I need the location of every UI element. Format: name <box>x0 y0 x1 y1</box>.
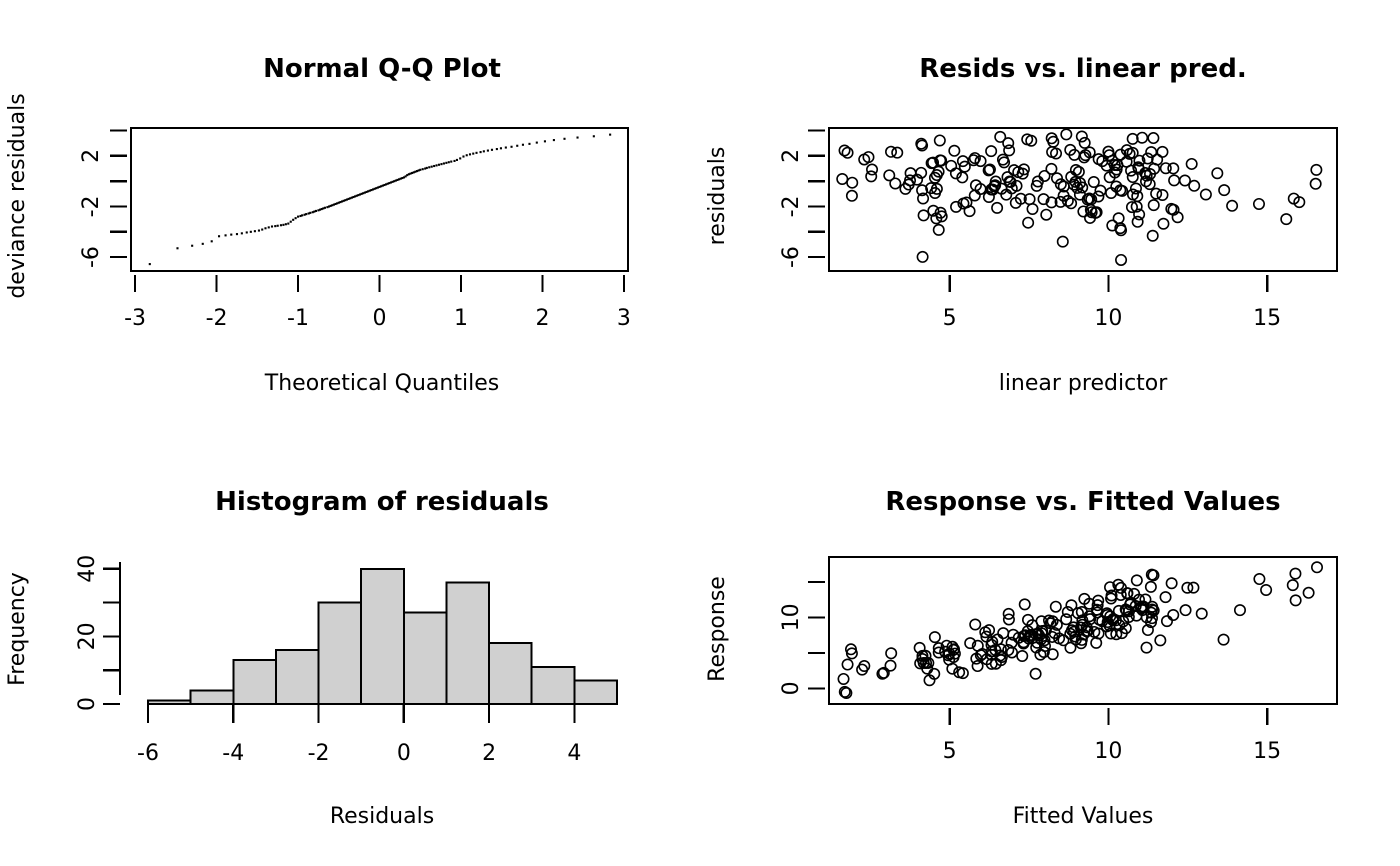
tick-label: -6 <box>779 246 804 268</box>
tick-label: -3 <box>124 306 146 331</box>
tick-label: 15 <box>1253 739 1281 764</box>
qq-yaxis-label: deviance residuals <box>5 93 30 298</box>
response-yaxis-label: Response <box>705 576 730 682</box>
resids-yaxis: -6-22 <box>779 131 825 269</box>
tick-label: -6 <box>137 741 159 766</box>
histogram-bar <box>191 690 234 704</box>
tick-label: 2 <box>79 149 104 163</box>
tick-label: -2 <box>308 741 330 766</box>
histogram-bar <box>319 603 362 704</box>
resids-data-points <box>837 129 1322 265</box>
tick-label: 40 <box>75 555 100 583</box>
histogram-bar <box>489 643 532 704</box>
tick-label: 15 <box>1253 306 1281 331</box>
panel-resids-vs-linear-pred: Resids vs. linear pred. linear predictor… <box>700 0 1400 433</box>
tick-label: 2 <box>535 306 549 331</box>
histogram-bar <box>233 660 276 704</box>
tick-label: 10 <box>1094 739 1122 764</box>
tick-label: -6 <box>79 246 104 268</box>
histogram-bar <box>532 667 575 704</box>
tick-label: 2 <box>482 741 496 766</box>
hist-yaxis: 02040 <box>75 555 120 711</box>
histogram-bars <box>148 569 617 704</box>
qq-plot-title: Normal Q-Q Plot <box>263 54 501 84</box>
hist-yaxis-label: Frequency <box>5 572 30 686</box>
tick-label: 3 <box>617 306 631 331</box>
tick-label: 0 <box>373 306 387 331</box>
qq-xaxis-label: Theoretical Quantiles <box>264 371 499 396</box>
qq-plot-frame <box>131 128 628 271</box>
response-yaxis: 010 <box>779 582 825 696</box>
histogram-bar <box>276 650 319 704</box>
resids-xaxis-label: linear predictor <box>999 371 1169 396</box>
tick-label: -1 <box>287 306 309 331</box>
panel-normal-qq-plot: Normal Q-Q Plot Theoretical Quantiles de… <box>0 0 700 433</box>
response-xaxis-label: Fitted Values <box>1013 804 1154 829</box>
tick-label: -4 <box>222 741 244 766</box>
resids-scatter-svg: Resids vs. linear pred. linear predictor… <box>700 0 1400 433</box>
histogram-bar <box>404 613 447 704</box>
response-data-points <box>838 562 1322 698</box>
histogram-bar <box>574 680 617 704</box>
qq-data-points <box>149 134 611 266</box>
tick-label: -2 <box>779 195 804 217</box>
hist-plot-title: Histogram of residuals <box>215 487 549 517</box>
tick-label: 5 <box>943 306 957 331</box>
tick-label: -2 <box>206 306 228 331</box>
panel-response-vs-fitted: Response vs. Fitted Values Fitted Values… <box>700 433 1400 866</box>
tick-label: 10 <box>1094 306 1122 331</box>
tick-label: 5 <box>943 739 957 764</box>
normal-qq-plot-svg: Normal Q-Q Plot Theoretical Quantiles de… <box>0 0 700 433</box>
response-scatter-svg: Response vs. Fitted Values Fitted Values… <box>700 433 1400 866</box>
tick-label: 1 <box>454 306 468 331</box>
response-xaxis: 51015 <box>943 708 1282 764</box>
resids-xaxis: 51015 <box>943 275 1282 331</box>
tick-label: 20 <box>75 622 100 650</box>
tick-label: -2 <box>79 195 104 217</box>
tick-label: 4 <box>567 741 581 766</box>
histogram-bar <box>361 569 404 704</box>
tick-label: 0 <box>75 697 100 711</box>
tick-label: 0 <box>397 741 411 766</box>
hist-xaxis: -6-4-2024 <box>137 704 586 766</box>
tick-label: 10 <box>779 603 804 631</box>
response-plot-title: Response vs. Fitted Values <box>885 487 1280 517</box>
resids-yaxis-label: residuals <box>705 147 730 246</box>
qq-xaxis: -3-2-10123 <box>124 275 631 331</box>
hist-xaxis-label: Residuals <box>330 804 434 829</box>
histogram-bar <box>446 582 489 704</box>
diagnostic-plot-grid: Normal Q-Q Plot Theoretical Quantiles de… <box>0 0 1400 866</box>
tick-label: 0 <box>779 681 804 695</box>
panel-histogram-of-residuals: Histogram of residuals Residuals Frequen… <box>0 433 700 866</box>
resids-plot-title: Resids vs. linear pred. <box>919 54 1246 84</box>
histogram-svg: Histogram of residuals Residuals Frequen… <box>0 433 700 866</box>
qq-yaxis: -6-22 <box>79 131 127 269</box>
tick-label: 2 <box>779 149 804 163</box>
